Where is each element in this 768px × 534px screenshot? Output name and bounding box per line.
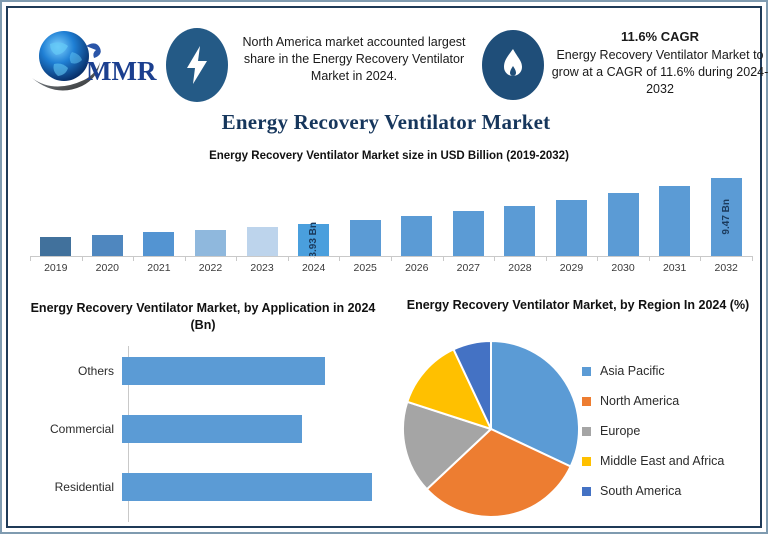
page-title: Energy Recovery Ventilator Market (2, 110, 768, 135)
bar-chart-title: Energy Recovery Ventilator Market size i… (20, 150, 758, 162)
legend-swatch (582, 427, 591, 436)
axis-tick (597, 256, 598, 261)
bar (504, 206, 535, 256)
bar-chart-plot: 3.93 Bn9.47 Bn (30, 170, 752, 256)
x-axis-label: 2029 (546, 262, 598, 274)
axis-tick (82, 256, 83, 261)
axis-tick (649, 256, 650, 261)
bar (40, 237, 71, 256)
x-axis-label: 2023 (236, 262, 288, 274)
application-bar-row: Commercial (20, 414, 386, 444)
bar (350, 220, 381, 256)
bar (247, 227, 278, 256)
axis-tick (30, 256, 31, 261)
bar-column (597, 170, 649, 256)
axis-tick (185, 256, 186, 261)
north-america-note: North America market accounted largest s… (232, 34, 476, 85)
legend-label: North America (600, 394, 679, 408)
bar-column (236, 170, 288, 256)
cagr-heading: 11.6% CAGR (550, 28, 768, 45)
application-category-label: Others (20, 364, 122, 378)
bar-column (546, 170, 598, 256)
x-axis-label: 2020 (82, 262, 134, 274)
bar (453, 211, 484, 256)
application-bar (122, 415, 302, 443)
cagr-note-block: 11.6% CAGR Energy Recovery Ventilator Ma… (550, 28, 768, 98)
axis-tick (752, 256, 753, 261)
pie-legend: Asia PacificNorth AmericaEuropeMiddle Ea… (582, 356, 762, 506)
x-axis-label: 2021 (133, 262, 185, 274)
lightning-bolt-icon (166, 28, 228, 102)
bar-column (494, 170, 546, 256)
legend-swatch (582, 367, 591, 376)
x-axis-label: 2032 (700, 262, 752, 274)
bar (195, 230, 226, 256)
bar-column (133, 170, 185, 256)
legend-swatch (582, 397, 591, 406)
axis-tick (700, 256, 701, 261)
flame-icon (482, 30, 544, 100)
x-axis-label: 2031 (649, 262, 701, 274)
legend-swatch (582, 457, 591, 466)
bar (143, 232, 174, 256)
legend-label: Asia Pacific (600, 364, 665, 378)
bar-column (339, 170, 391, 256)
axis-tick (391, 256, 392, 261)
x-axis-label: 2026 (391, 262, 443, 274)
application-category-label: Residential (20, 480, 122, 494)
application-chart-plot: OthersCommercialResidential (20, 346, 386, 522)
bar-column (649, 170, 701, 256)
bar-column: 9.47 Bn (700, 170, 752, 256)
axis-tick (494, 256, 495, 261)
market-size-bar-chart: Energy Recovery Ventilator Market size i… (20, 150, 758, 284)
bar (659, 186, 690, 256)
legend-item: Middle East and Africa (582, 446, 762, 476)
axis-tick (546, 256, 547, 261)
axis-tick (288, 256, 289, 261)
axis-tick (443, 256, 444, 261)
application-category-label: Commercial (20, 422, 122, 436)
legend-item: Asia Pacific (582, 356, 762, 386)
bar (556, 200, 587, 256)
x-axis-label: 2024 (288, 262, 340, 274)
x-axis-label: 2019 (30, 262, 82, 274)
logo-wordmark: MMR (86, 56, 157, 86)
application-bar-row: Residential (20, 472, 386, 502)
axis-tick (236, 256, 237, 261)
legend-item: North America (582, 386, 762, 416)
bar-value-label: 9.47 Bn (721, 199, 732, 235)
legend-item: South America (582, 476, 762, 506)
bar-column (30, 170, 82, 256)
region-pie-chart: Energy Recovery Ventilator Market, by Re… (394, 294, 762, 528)
axis-tick (133, 256, 134, 261)
x-axis-label: 2025 (339, 262, 391, 274)
bar: 3.93 Bn (298, 224, 329, 256)
bar (401, 216, 432, 256)
pie-graphic (400, 336, 582, 522)
bar (608, 193, 639, 256)
region-chart-title: Energy Recovery Ventilator Market, by Re… (398, 296, 758, 314)
bar-column (82, 170, 134, 256)
x-axis-label: 2022 (185, 262, 237, 274)
x-axis-label: 2030 (597, 262, 649, 274)
bar: 9.47 Bn (711, 178, 742, 256)
application-bar (122, 357, 325, 385)
legend-label: Middle East and Africa (600, 454, 724, 468)
mmr-logo: MMR (24, 26, 164, 96)
legend-swatch (582, 487, 591, 496)
infographic-frame: MMR North America market accounted large… (0, 0, 768, 534)
bar-chart-x-labels: 2019202020212022202320242025202620272028… (30, 262, 752, 280)
application-bar-row: Others (20, 356, 386, 386)
bar-value-label: 3.93 Bn (308, 222, 319, 258)
x-axis-label: 2027 (443, 262, 495, 274)
bar (92, 235, 123, 256)
axis-tick (339, 256, 340, 261)
header: MMR North America market accounted large… (10, 10, 762, 106)
bar-column: 3.93 Bn (288, 170, 340, 256)
cagr-description: Energy Recovery Ventilator Market to gro… (552, 48, 768, 96)
x-axis-label: 2028 (494, 262, 546, 274)
bar-column (391, 170, 443, 256)
bar-column (185, 170, 237, 256)
application-bar (122, 473, 372, 501)
legend-label: South America (600, 484, 681, 498)
bar-column (443, 170, 495, 256)
application-bar-chart: Energy Recovery Ventilator Market, by Ap… (12, 298, 394, 528)
application-chart-title: Energy Recovery Ventilator Market, by Ap… (20, 300, 386, 334)
legend-item: Europe (582, 416, 762, 446)
legend-label: Europe (600, 424, 640, 438)
